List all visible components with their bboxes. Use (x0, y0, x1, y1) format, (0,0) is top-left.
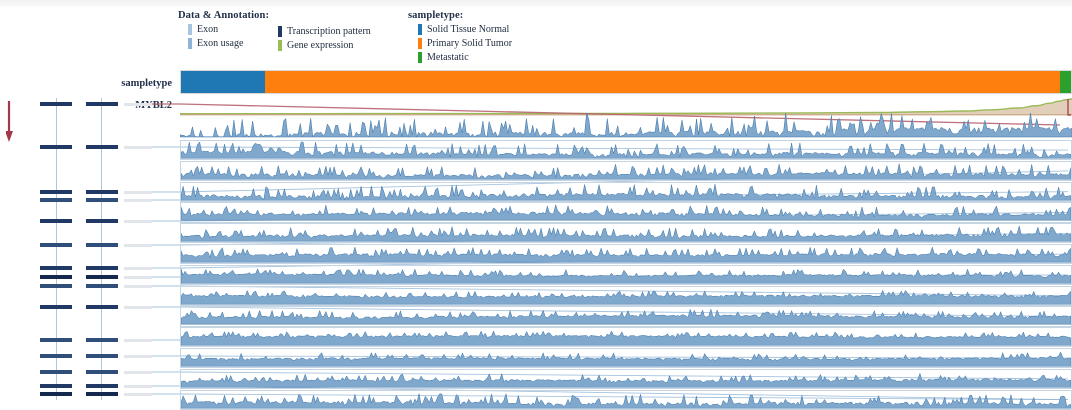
exon-structure-model (0, 98, 180, 400)
sampletype-segment-3 (1060, 71, 1071, 93)
exon-ghost-5 (124, 220, 152, 223)
legend-label-exon: Exon (197, 24, 218, 35)
sampletype-segment-1 (181, 71, 265, 93)
legend-swatch-metastatic (418, 52, 422, 63)
exon-usage-area (181, 352, 1071, 366)
exon-block-10-left (40, 305, 72, 309)
legend-swatch-exon (188, 24, 192, 35)
exon-usage-area (181, 226, 1071, 241)
exon-usage-area (181, 247, 1071, 262)
exon-usage-area (181, 290, 1071, 304)
legend-label-gene-expression: Gene expression (287, 40, 353, 51)
legend-item-primary-solid-tumor: Primary Solid Tumor (408, 37, 568, 50)
exon-usage-area (181, 205, 1071, 220)
legend-item-gene-expression: Gene expression (278, 39, 408, 52)
exon-usage-track-4 (180, 182, 1072, 202)
exon-block-11-left (40, 338, 72, 342)
exon-block-11-right (86, 338, 118, 342)
exon-block-12-right (86, 354, 118, 358)
exon-block-1-right (86, 102, 118, 106)
exon-block-6-right (86, 243, 118, 247)
legend-item-exon: Exon (178, 23, 288, 36)
exon-block-13-right (86, 370, 118, 374)
exon-usage-area (181, 309, 1071, 324)
legend-swatch-gene-expression (278, 40, 282, 51)
exon-usage-track-11 (180, 327, 1072, 347)
legend-item-solid-tissue-normal: Solid Tissue Normal (408, 23, 568, 36)
legend-label-metastatic: Metastatic (427, 52, 469, 63)
sampletype-segment-2 (265, 71, 1061, 93)
exon-usage-area (181, 393, 1071, 408)
exon-ghost-9 (124, 285, 152, 288)
sampletype-annotation-bar (180, 70, 1072, 94)
exon-block-8-right (86, 275, 118, 279)
exon-usage-track-3 (180, 161, 1072, 181)
exon-block-5-right (86, 219, 118, 223)
exon-ghost-11 (124, 339, 152, 342)
exon-usage-track-10 (180, 306, 1072, 326)
exon-usage-track-7 (180, 244, 1072, 264)
exon-ghost-15 (124, 393, 152, 396)
exon-ghost-8 (124, 276, 152, 279)
legend-swatch-transcription-pattern (278, 26, 282, 37)
exon-ghost-14 (124, 385, 152, 388)
legend-group-patterns: Transcription pattern Gene expression (278, 24, 408, 52)
exon-ghost-6 (124, 244, 152, 247)
exon-block-13-left (40, 370, 72, 374)
exon-block-12-left (40, 354, 72, 358)
exon-ghost-2 (124, 146, 152, 149)
top-gray-strip (0, 0, 1072, 8)
exon-block-1-left (40, 102, 72, 106)
legend-label-solid-tissue-normal: Solid Tissue Normal (427, 24, 509, 35)
exon-usage-area (181, 373, 1071, 387)
exon-ghost-12 (124, 355, 152, 358)
legend-swatch-solid-tissue-normal (418, 24, 422, 35)
legend-swatch-primary-solid-tumor (418, 38, 422, 49)
exon-block-9-left (40, 284, 72, 288)
exon-block-3-left (40, 190, 72, 194)
exon-block-7-left (40, 266, 72, 270)
exon-usage-track-5 (180, 202, 1072, 222)
exon-usage-area (181, 184, 1071, 200)
exon-usage-area (181, 163, 1071, 178)
legend-title-data-annotation: Data & Annotation: (178, 10, 288, 22)
legend-swatch-exon-usage (188, 38, 192, 49)
exon-usage-area (181, 268, 1071, 283)
legend-label-primary-solid-tumor: Primary Solid Tumor (427, 38, 512, 49)
row-label-sampletype: sampletype (40, 78, 172, 89)
exon-usage-track-8 (180, 265, 1072, 285)
exon-block-15-left (40, 392, 72, 396)
exon-usage-area (181, 142, 1071, 158)
legend-group-sampletype: sampletype: Solid Tissue Normal Primary … (408, 10, 568, 64)
exon-usage-track-12 (180, 348, 1072, 368)
exon-block-3-right (86, 190, 118, 194)
exon-usage-track-13 (180, 369, 1072, 389)
exon-ghost-7 (124, 267, 152, 270)
legend-label-transcription-pattern: Transcription pattern (287, 26, 371, 37)
exon-block-4-right (86, 198, 118, 202)
exon-usage-track-6 (180, 223, 1072, 243)
exon-block-10-right (86, 305, 118, 309)
exon-block-14-left (40, 384, 72, 388)
legend-item-transcription-pattern: Transcription pattern (278, 25, 408, 38)
legend-item-exon-usage: Exon usage (178, 37, 288, 50)
exon-usage-track-9 (180, 286, 1072, 306)
exon-usage-area (180, 113, 1072, 137)
exon-block-14-right (86, 384, 118, 388)
direction-arrow-icon (6, 100, 32, 144)
exon-ghost-13 (124, 371, 152, 374)
exon-block-6-left (40, 243, 72, 247)
figure-root: Data & Annotation: Exon Exon usage Trans… (0, 0, 1072, 400)
exon-ghost-3 (124, 191, 152, 194)
exon-block-15-right (86, 392, 118, 396)
exon-usage-track-1 (180, 112, 1072, 138)
exon-ghost-1 (124, 103, 152, 106)
exon-usage-track-2 (180, 140, 1072, 160)
exon-block-9-right (86, 284, 118, 288)
exon-block-2-right (86, 145, 118, 149)
exon-block-8-left (40, 275, 72, 279)
legend-group-data-annotation: Data & Annotation: Exon Exon usage (178, 10, 288, 50)
exon-block-5-left (40, 219, 72, 223)
legend-title-sampletype: sampletype: (408, 10, 568, 22)
exon-ghost-4 (124, 199, 152, 202)
legend-item-metastatic: Metastatic (408, 51, 568, 64)
exon-ghost-10 (124, 306, 152, 309)
exon-block-2-left (40, 145, 72, 149)
exon-block-4-left (40, 198, 72, 202)
exon-block-7-right (86, 266, 118, 270)
exon-usage-track-panel (180, 112, 1072, 400)
legend-label-exon-usage: Exon usage (197, 38, 243, 49)
legend: Data & Annotation: Exon Exon usage Trans… (178, 10, 738, 60)
exon-usage-area (181, 331, 1071, 345)
